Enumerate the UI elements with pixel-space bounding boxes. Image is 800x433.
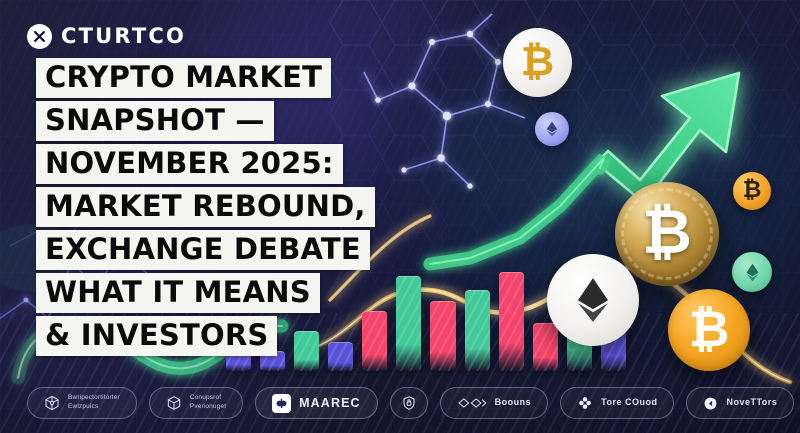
brand-logo[interactable]: CTURTCO	[27, 24, 186, 49]
bar-7-pink	[430, 301, 455, 371]
ethereum-icon	[543, 120, 561, 138]
partner-badge-label: Tore COuod	[601, 397, 657, 409]
clover-dots-icon	[577, 395, 593, 411]
partner-badge-line-1: Conupsrof	[190, 394, 226, 403]
maarec-square-icon	[272, 394, 291, 413]
partner-badge-line-1: NoveTTors	[726, 397, 777, 409]
partner-badge-4[interactable]	[390, 387, 428, 419]
partner-badge-row: BwripectortitorterEwlzpuicsConupsrofPver…	[0, 381, 800, 425]
partner-badge-label: NoveTTors	[726, 397, 777, 409]
brand-name: CTURTCO	[61, 26, 186, 47]
ethereum-icon	[568, 275, 618, 325]
bitcoin-coin-orange: ₿	[668, 289, 750, 371]
chevron-diamond-icon	[457, 396, 487, 410]
partner-badge-line-1: Tore COuod	[601, 397, 657, 409]
headline-line-5: EXCHANGE DEBATE	[36, 230, 370, 270]
headline-line-1: CRYPTO MARKET	[36, 58, 331, 98]
headline-line-4: MARKET REBOUND,	[36, 187, 375, 227]
headline-line-7: & INVESTORS	[36, 316, 277, 356]
partner-badge-7[interactable]: NoveTTors	[686, 387, 794, 419]
bar-9-pink	[499, 272, 524, 371]
partner-badge-5[interactable]: Boouns	[440, 387, 549, 419]
cube-icon	[166, 395, 182, 411]
partner-badge-1[interactable]: BwripectortitorterEwlzpuics	[27, 387, 137, 419]
headline-line-3: NOVEMBER 2025:	[36, 144, 343, 184]
bitcoin-symbol: ₿	[743, 179, 762, 202]
ethereum-coin-white	[547, 254, 639, 346]
partner-badge-6[interactable]: Tore COuod	[560, 387, 674, 419]
headline-line-2: SNAPSHOT —	[36, 101, 274, 141]
bitcoin-symbol: ₿	[642, 202, 692, 263]
shield-lock-icon	[401, 395, 417, 411]
partner-badge-label: Boouns	[495, 397, 532, 409]
partner-badge-label: MAAREC	[299, 395, 360, 412]
headline: CRYPTO MARKETSNAPSHOT —NOVEMBER 2025:MAR…	[36, 58, 375, 356]
partner-badge-label: ConupsrofPverionuget	[190, 394, 226, 411]
bitcoin-coin-gold-3d: ₿	[615, 182, 719, 286]
bar-6-green	[396, 276, 421, 371]
hexagon-node-icon	[44, 395, 60, 411]
bitcoin-coin-white: ₿	[503, 28, 572, 97]
bitcoin-coin-mini: ₿	[733, 172, 771, 210]
bar-10-pink	[533, 323, 558, 371]
bitcoin-symbol: ₿	[689, 304, 730, 354]
partner-badge-label: BwripectortitorterEwlzpuics	[68, 394, 120, 411]
partner-badge-2[interactable]: ConupsrofPverionuget	[149, 387, 243, 419]
ethereum-coin-violet	[535, 112, 569, 146]
partner-badge-line-1: MAAREC	[299, 395, 360, 412]
partner-badge-3[interactable]: MAAREC	[255, 387, 377, 419]
partner-badge-line-2: Pverionuget	[190, 403, 226, 412]
bar-8-green	[465, 290, 490, 371]
headline-line-6: WHAT IT MEANS	[36, 273, 320, 313]
partner-badge-line-2: Ewlzpuics	[68, 403, 120, 412]
partner-badge-line-1: Boouns	[495, 397, 532, 409]
partner-badge-line-1: Bwripectortitorter	[68, 394, 120, 403]
bitcoin-symbol: ₿	[521, 41, 554, 82]
ethereum-icon	[742, 262, 763, 283]
crypto-banner: ₿ ₿ ₿ ₿ CTURTCO CR	[0, 0, 800, 433]
circle-arrow-icon	[703, 396, 718, 411]
ethereum-coin-mint	[732, 252, 772, 292]
x-mark-icon	[27, 24, 52, 49]
